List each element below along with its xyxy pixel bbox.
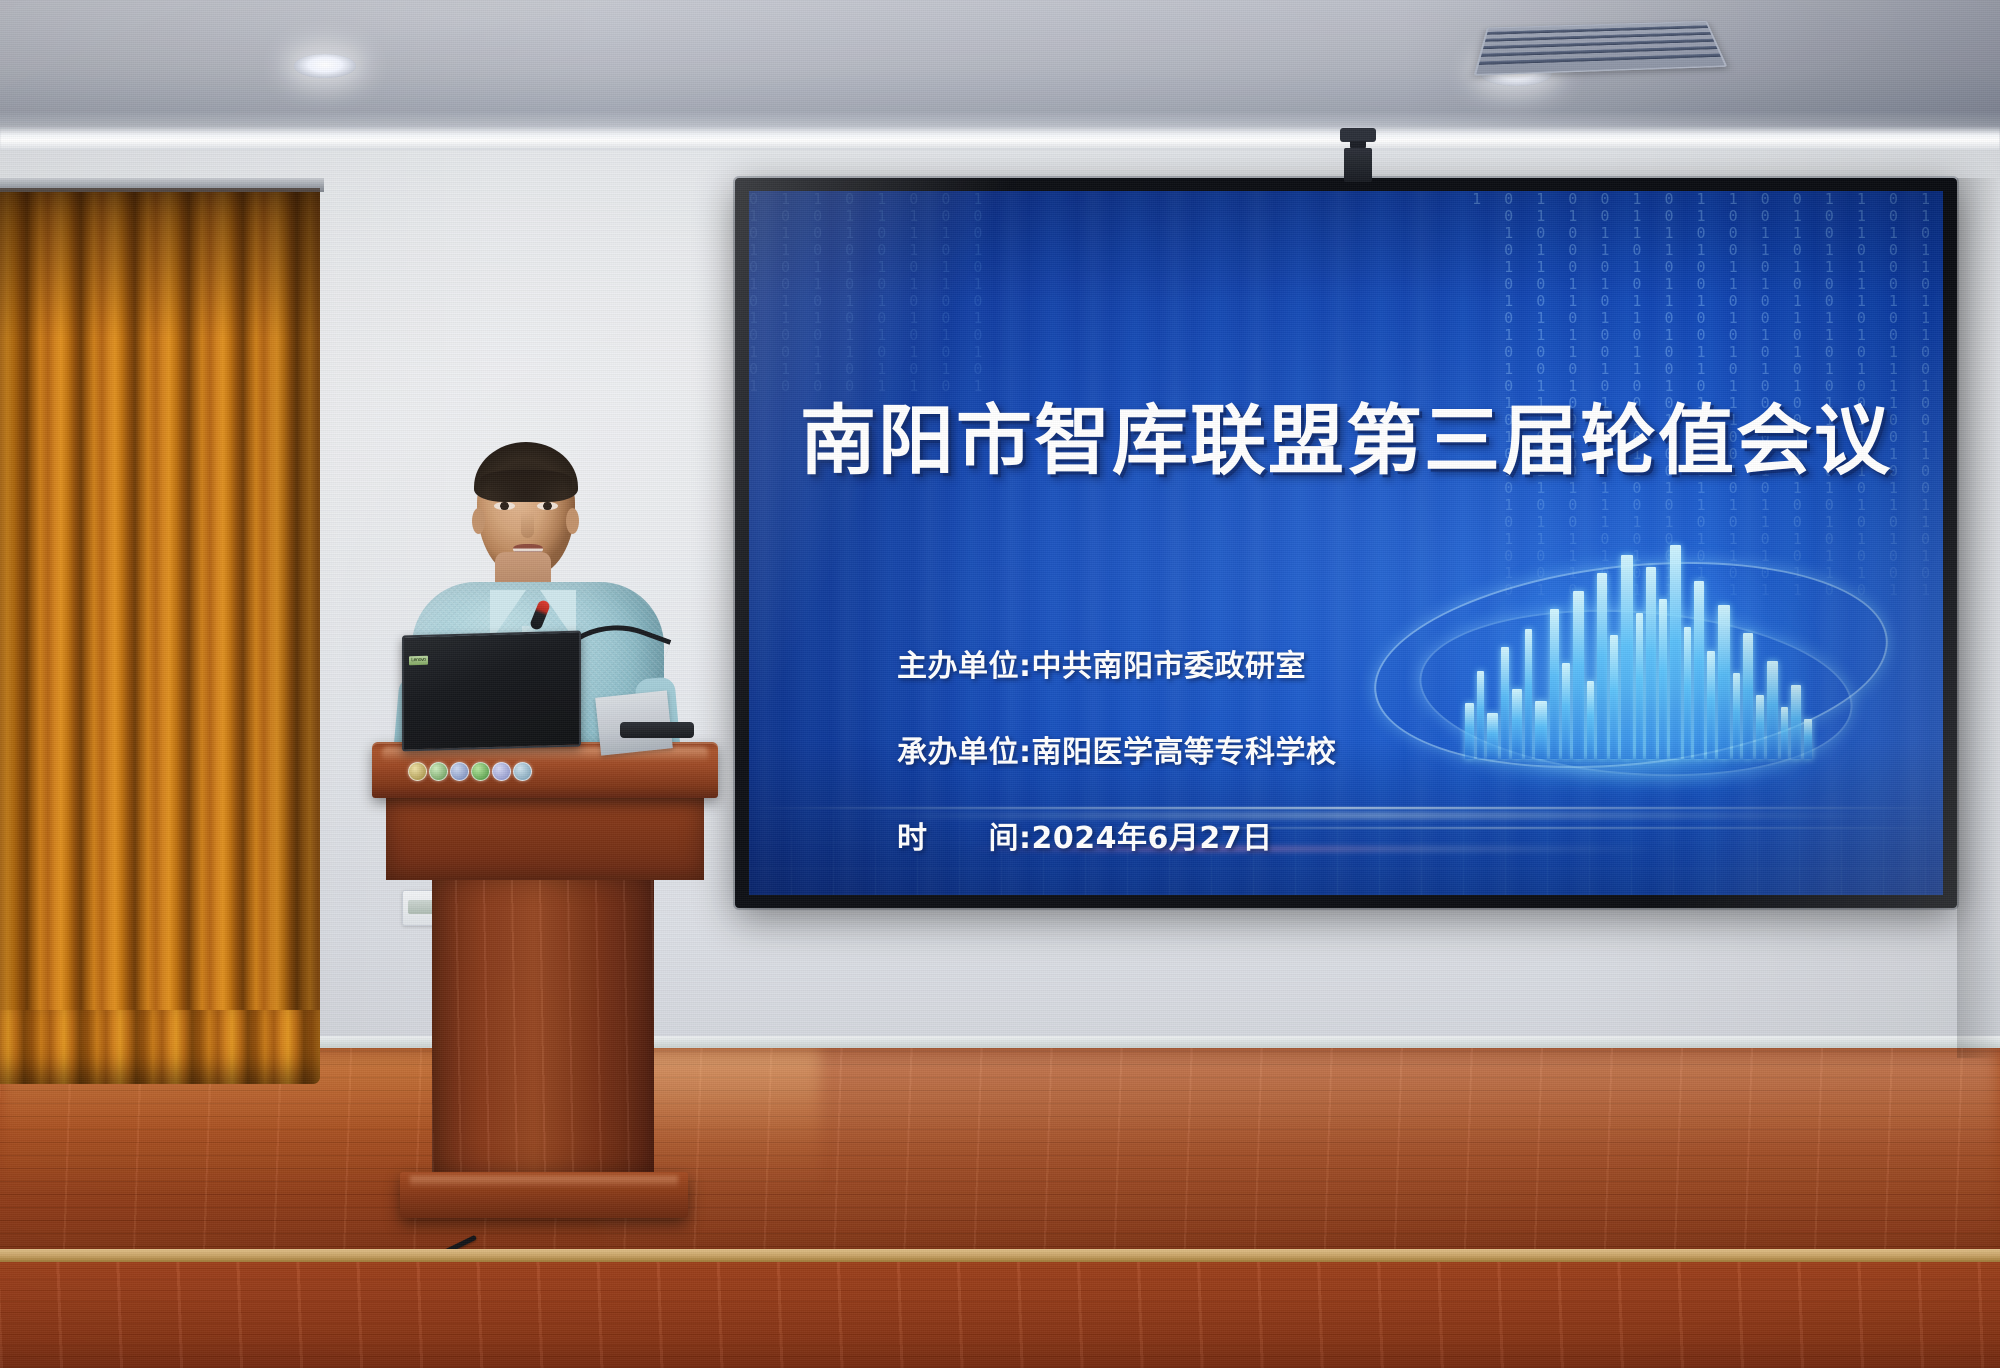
lectern-emblem-icon <box>492 762 511 781</box>
led-screen-frame: 0 1 1 0 1 0 0 1 1 0 0 1 1 1 0 0 0 1 0 1 … <box>735 178 1957 908</box>
lectern-emblem-icon <box>471 762 490 781</box>
lectern-emblem-icon <box>429 762 448 781</box>
recessed-downlight-icon <box>294 54 356 78</box>
curtain-rail <box>0 178 324 192</box>
curtain-hem <box>0 1010 320 1084</box>
air-vent-grille-icon <box>1474 21 1728 76</box>
microphone-base <box>620 722 694 738</box>
slide-title: 南阳市智库联盟第三届轮值会议 <box>749 379 1943 489</box>
lectern-base <box>400 1172 688 1218</box>
eye-right <box>537 502 558 510</box>
lectern-base-gloss <box>410 1176 678 1188</box>
lectern-emblem-icon <box>513 762 532 781</box>
linear-light-cove <box>0 126 2000 152</box>
ear-right <box>566 508 579 534</box>
ear-left <box>472 508 485 534</box>
slide-line-date: 时 间:2024年6月27日 <box>897 813 1537 857</box>
stage-curtain <box>0 188 320 1078</box>
lectern-column <box>432 876 654 1176</box>
lectern-emblem-icon <box>408 762 427 781</box>
lectern-emblem-row <box>408 762 532 781</box>
slide-text-block: 主办单位:中共南阳市委政研室 承办单位:南阳医学高等专科学校 时 间:2024年… <box>897 641 1537 895</box>
ceiling <box>0 0 2000 168</box>
lectern-emblem-icon <box>450 762 469 781</box>
slide-line-organizer: 主办单位:中共南阳市委政研室 <box>897 641 1537 685</box>
stage-front-panel <box>0 1262 2000 1368</box>
eye-left <box>494 502 515 510</box>
led-screen-display: 0 1 1 0 1 0 0 1 1 0 0 1 1 1 0 0 0 1 0 1 … <box>749 191 1943 895</box>
floor-sheen <box>600 1048 2000 1260</box>
laptop-brand-badge: Lenovo <box>409 656 428 666</box>
slide-line-host-unit: 承办单位:南阳医学高等专科学校 <box>897 727 1537 771</box>
lectern-body <box>386 796 704 880</box>
wall-right-shadow <box>1957 178 2000 1058</box>
stage-front-texture <box>0 1262 2000 1368</box>
conference-hall-photo: 0 1 1 0 1 0 0 1 1 0 0 1 1 1 0 0 0 1 0 1 … <box>0 0 2000 1368</box>
screen-ceiling-mount <box>1344 148 1372 182</box>
lectern-column-texture <box>432 876 654 1176</box>
laptop[interactable]: Lenovo <box>402 631 581 752</box>
nose <box>521 512 534 538</box>
ceiling-camera-icon <box>1340 128 1376 142</box>
